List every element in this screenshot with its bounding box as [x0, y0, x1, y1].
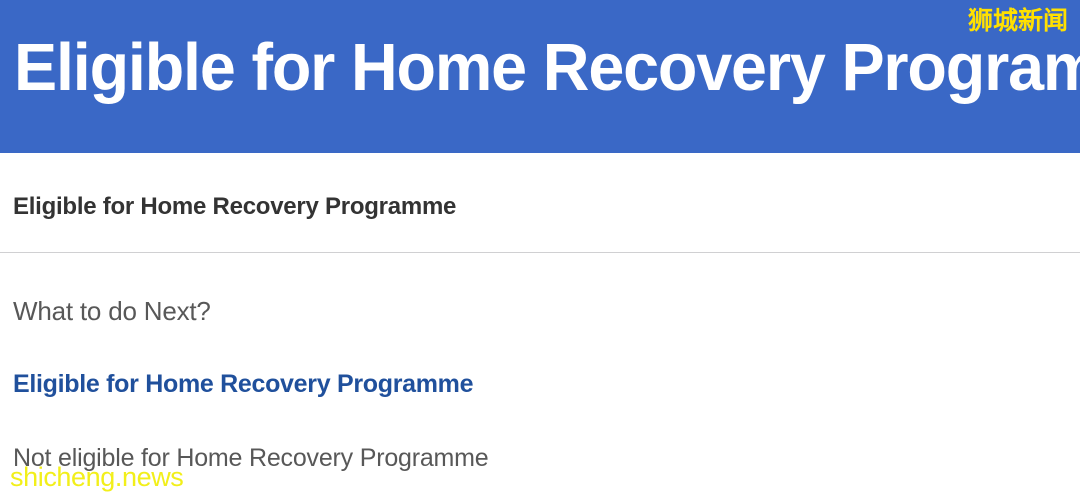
link-eligible-home-recovery-programme[interactable]: Eligible for Home Recovery Programme	[13, 369, 473, 400]
watermark-top-right: 狮城新闻	[968, 6, 1068, 36]
section-subtitle: Eligible for Home Recovery Programme	[13, 192, 456, 222]
watermark-bottom-left: shicheng.news	[10, 461, 183, 493]
section-divider	[0, 252, 1080, 253]
what-to-do-next-heading: What to do Next?	[13, 295, 211, 327]
page-title: Eligible for Home Recovery Programme	[14, 27, 1018, 109]
main-content: Eligible for Home Recovery Programme Wha…	[0, 153, 1080, 495]
page-header-banner: Eligible for Home Recovery Programme 狮城新…	[0, 0, 1080, 153]
